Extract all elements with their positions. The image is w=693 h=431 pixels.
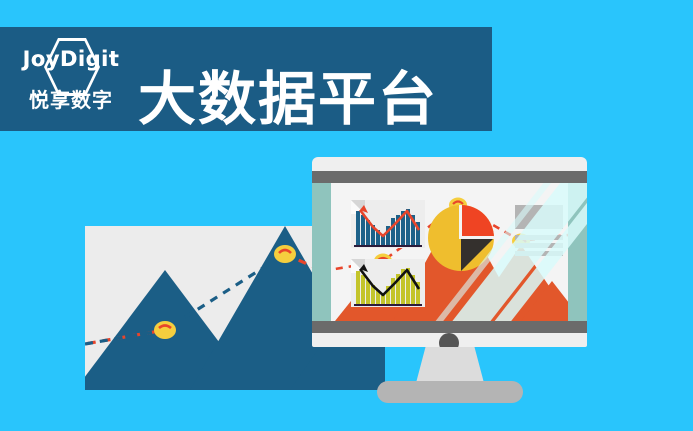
desktop-monitor (312, 157, 587, 392)
bar (391, 278, 395, 304)
pie-slice-red (461, 205, 494, 238)
poster-canvas: JoyDigit 悦享数字 大数据平台 (0, 0, 693, 431)
bar (361, 275, 365, 304)
monitor-top-bezel (312, 171, 587, 183)
monitor-stand-base (377, 381, 523, 403)
bar (371, 225, 375, 245)
bar (391, 218, 395, 245)
brand-logo: JoyDigit 悦享数字 (16, 36, 126, 122)
bar (356, 211, 360, 245)
monitor-stand-neck (416, 347, 484, 383)
bar (401, 211, 405, 245)
bar (396, 274, 400, 304)
bar (411, 215, 415, 245)
bar (386, 286, 390, 304)
bar (376, 290, 380, 304)
bar (406, 209, 410, 245)
bar (376, 230, 380, 245)
header-banner: JoyDigit 悦享数字 大数据平台 (0, 27, 492, 131)
bar (381, 293, 385, 304)
pie-gap (461, 236, 494, 239)
bar (411, 275, 415, 304)
pie-gap (459, 205, 462, 239)
bar (406, 268, 410, 304)
bar (356, 271, 360, 304)
bar (416, 282, 420, 304)
logo-subtitle: 悦享数字 (16, 91, 126, 111)
bar (386, 226, 390, 245)
bar (366, 280, 370, 304)
monitor-screen (312, 183, 587, 321)
page-title: 大数据平台 (138, 71, 438, 129)
x-axis (354, 304, 422, 306)
bar (381, 234, 385, 245)
bar (366, 220, 370, 245)
olive-bar-chart-card[interactable] (351, 259, 425, 307)
x-axis (354, 245, 422, 247)
bar (361, 215, 365, 245)
monitor-bottom-bezel (312, 321, 587, 333)
blue-bar-chart-card[interactable] (351, 200, 425, 248)
bar (401, 269, 405, 304)
bar (371, 285, 375, 304)
logo-wordmark: JoyDigit (16, 49, 126, 70)
bar (416, 222, 420, 245)
bar (396, 215, 400, 245)
